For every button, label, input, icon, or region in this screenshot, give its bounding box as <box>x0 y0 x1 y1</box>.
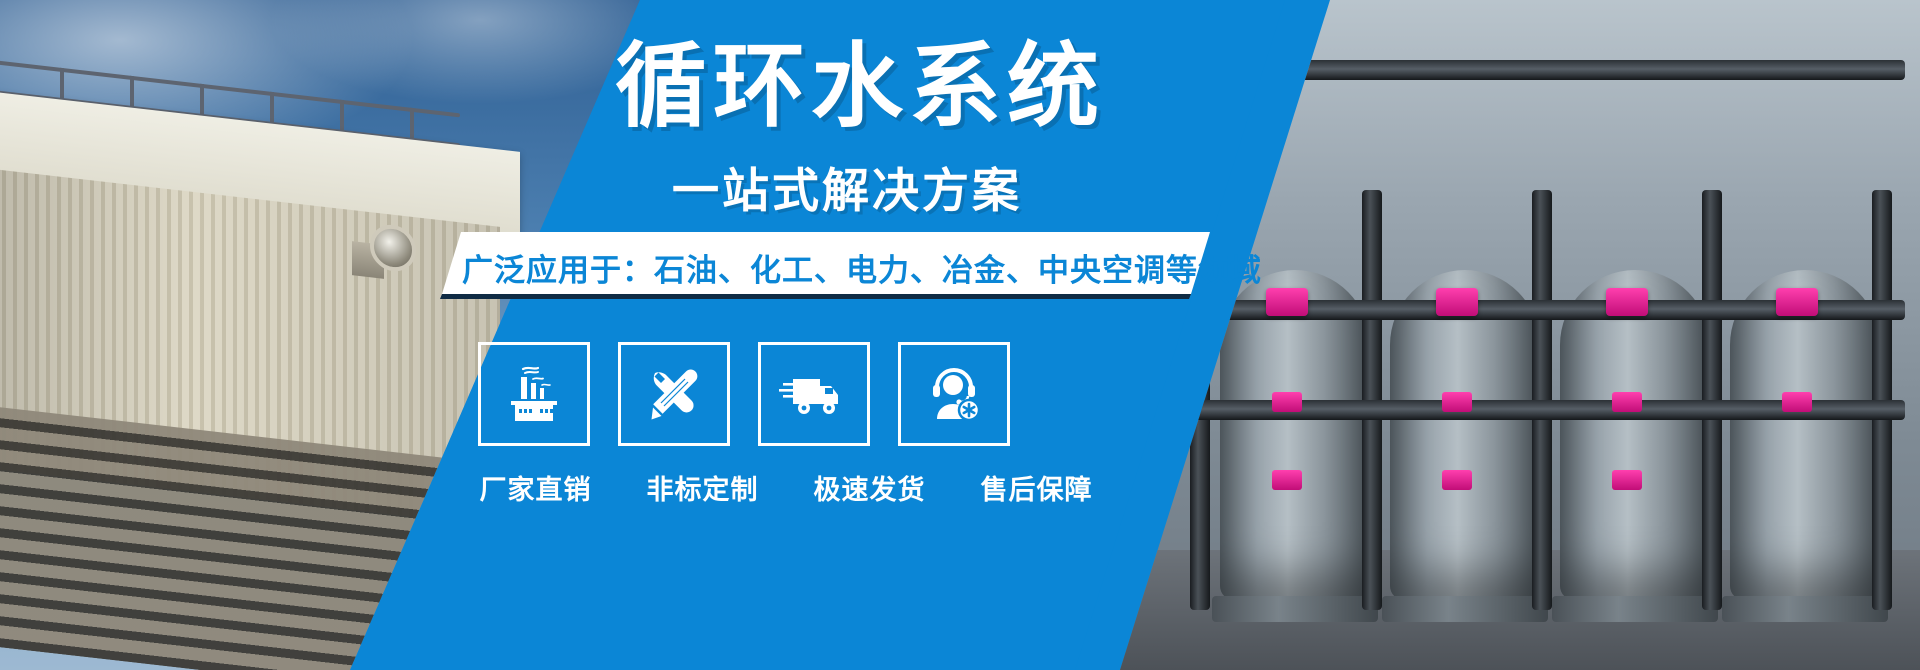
pink-valve <box>1442 470 1472 490</box>
feature-item-factory[interactable] <box>478 342 590 446</box>
feature-item-custom[interactable] <box>618 342 730 446</box>
pink-valve <box>1612 470 1642 490</box>
pink-valve <box>1606 288 1648 316</box>
banner-subtitle: 一站式解决方案 <box>672 152 1022 221</box>
pink-valve <box>1272 470 1302 490</box>
pink-valve <box>1436 288 1478 316</box>
feature-label-custom: 非标定制 <box>633 468 772 507</box>
promo-banner: 循环水系统 一站式解决方案 广泛应用于：石油、化工、电力、冶金、中央空调等领域 <box>0 0 1920 670</box>
feature-label-factory: 厂家直销 <box>466 468 605 507</box>
pink-valve <box>1442 392 1472 412</box>
factory-icon <box>499 363 569 425</box>
pink-valve <box>1272 392 1302 412</box>
support-icon <box>919 363 989 425</box>
feature-item-support[interactable] <box>898 342 1010 446</box>
tools-icon <box>639 363 709 425</box>
feature-label-shipping: 极速发货 <box>800 468 939 507</box>
pink-valve <box>1266 288 1308 316</box>
truck-icon <box>779 363 849 425</box>
banner-title: 循环水系统 <box>615 36 1315 139</box>
feature-label-row: 厂家直销 非标定制 极速发货 售后保障 <box>466 468 1106 507</box>
pink-valve <box>1782 392 1812 412</box>
feature-label-support: 售后保障 <box>967 468 1106 507</box>
pink-valve <box>1612 392 1642 412</box>
feature-item-shipping[interactable] <box>758 342 870 446</box>
applications-text: 广泛应用于：石油、化工、电力、冶金、中央空调等领域 <box>462 245 1262 290</box>
pink-valve <box>1776 288 1818 316</box>
